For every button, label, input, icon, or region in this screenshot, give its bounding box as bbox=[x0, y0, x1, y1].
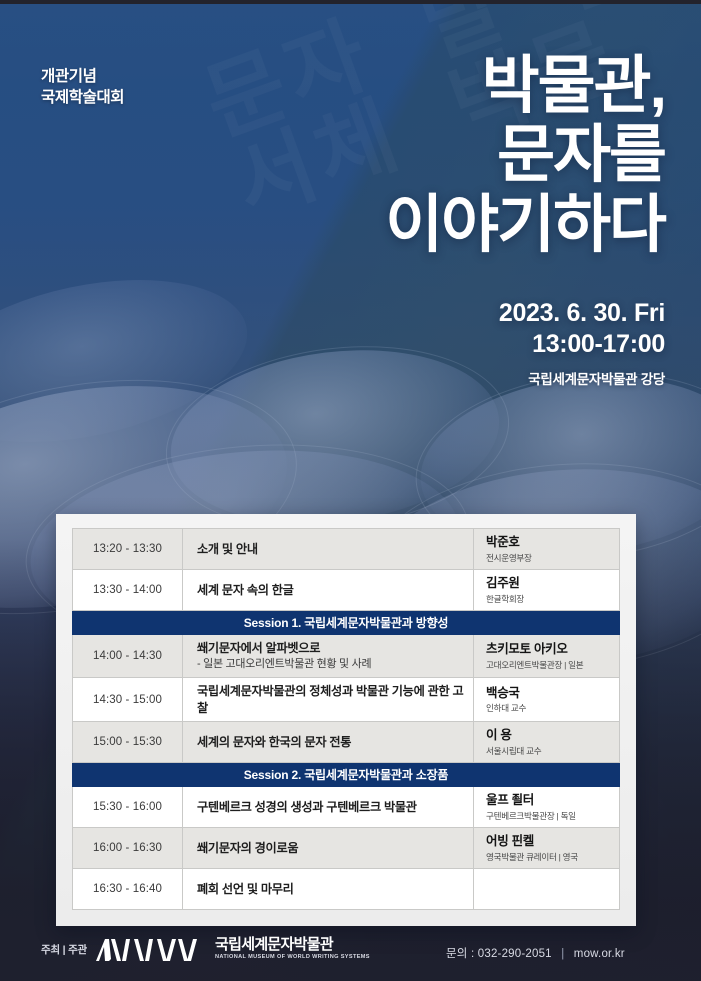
session-title-cell: 소개 및 안내 bbox=[183, 529, 474, 570]
headline-line-3: 이야기하다 bbox=[385, 191, 665, 260]
table-row: 14:30 - 15:00국립세계문자박물관의 정체성과 박물관 기능에 관한 … bbox=[73, 678, 620, 722]
session-header-row: Session 1. 국립세계문자박물관과 방향성 bbox=[73, 611, 620, 635]
session-title: 세계 문자 속의 한글 bbox=[197, 583, 294, 597]
speaker-cell: 어빙 핀켈영국박물관 큐레이터 | 영국 bbox=[474, 828, 620, 869]
headline-line-2: 문자를 bbox=[385, 121, 665, 190]
session-time: 15:30 - 16:00 bbox=[73, 787, 183, 828]
session-time: 15:00 - 15:30 bbox=[73, 722, 183, 763]
organizer-name-ko: 국립세계문자박물관 bbox=[215, 937, 370, 953]
speaker-name: 어빙 핀켈 bbox=[486, 834, 611, 850]
speaker-cell: 울프 죌터구텐베르크박물관장 | 독일 bbox=[474, 787, 620, 828]
contact-label: 문의 : bbox=[446, 948, 474, 960]
headline-line-1: 박물관, bbox=[385, 52, 665, 121]
speaker-name: 김주원 bbox=[486, 576, 611, 592]
speaker-cell: 김주원한글학회장 bbox=[474, 570, 620, 611]
poster-footer: 주최 | 주관 국립세계문자 bbox=[0, 913, 701, 981]
event-date: 2023. 6. 30. Fri bbox=[499, 298, 665, 329]
session-title: 쐐기문자에서 알파벳으로 bbox=[197, 641, 320, 655]
schedule-table: 13:20 - 13:30소개 및 안내박준호전시운영부장13:30 - 14:… bbox=[72, 528, 620, 910]
session-title-cell: 세계의 문자와 한국의 문자 전통 bbox=[183, 722, 474, 763]
event-time: 13:00-17:00 bbox=[499, 329, 665, 360]
event-datetime: 2023. 6. 30. Fri 13:00-17:00 bbox=[499, 298, 665, 361]
session-title-cell: 쐐기문자에서 알파벳으로- 일본 고대오리엔트박물관 현황 및 사례 bbox=[183, 635, 474, 678]
session-time: 16:00 - 16:30 bbox=[73, 828, 183, 869]
session-time: 13:20 - 13:30 bbox=[73, 529, 183, 570]
speaker-cell bbox=[474, 869, 620, 910]
session-header-row: Session 2. 국립세계문자박물관과 소장품 bbox=[73, 763, 620, 787]
session-title: 쐐기문자의 경이로움 bbox=[197, 841, 298, 855]
speaker-affiliation: 인하대 교수 bbox=[486, 703, 611, 713]
organizer-names: 국립세계문자박물관 NATIONAL MUSEUM OF WORLD WRITI… bbox=[215, 937, 370, 961]
session-time: 16:30 - 16:40 bbox=[73, 869, 183, 910]
event-venue: 국립세계문자박물관 강당 bbox=[528, 368, 665, 388]
session-title: 소개 및 안내 bbox=[197, 542, 258, 556]
speaker-name: 울프 죌터 bbox=[486, 793, 611, 809]
page-title: 박물관, 문자를 이야기하다 bbox=[385, 52, 665, 260]
speaker-name: 츠키모토 아키오 bbox=[486, 642, 611, 658]
speaker-affiliation: 고대오리엔트박물관장 | 일본 bbox=[486, 660, 611, 670]
speaker-cell: 백승국인하대 교수 bbox=[474, 678, 620, 722]
event-kicker: 개관기념 국제학술대회 bbox=[41, 66, 124, 109]
organizer-name-en: NATIONAL MUSEUM OF WORLD WRITING SYSTEMS bbox=[215, 955, 370, 961]
conference-poster: 문자 말 글 서체 박물 개관기념 국제학술대회 박물관, 문자를 이야기하다 … bbox=[0, 0, 701, 981]
organizer-label: 주최 | 주관 bbox=[41, 942, 87, 957]
mow-logo-icon bbox=[96, 935, 204, 963]
contact-info: 문의 : 032-290-2051 | mow.or.kr bbox=[446, 945, 625, 961]
contact-phone: 032-290-2051 bbox=[478, 948, 552, 960]
speaker-affiliation: 영국박물관 큐레이터 | 영국 bbox=[486, 852, 611, 862]
table-row: 13:20 - 13:30소개 및 안내박준호전시운영부장 bbox=[73, 529, 620, 570]
speaker-cell: 박준호전시운영부장 bbox=[474, 529, 620, 570]
session-header-label: Session 1. 국립세계문자박물관과 방향성 bbox=[73, 611, 620, 635]
speaker-affiliation: 서울시립대 교수 bbox=[486, 746, 611, 756]
speaker-name: 백승국 bbox=[486, 686, 611, 702]
speaker-name: 박준호 bbox=[486, 535, 611, 551]
speaker-affiliation: 한글학회장 bbox=[486, 594, 611, 604]
organizer-block: 주최 | 주관 국립세계문자 bbox=[41, 935, 370, 963]
session-subtitle: - 일본 고대오리엔트박물관 현황 및 사례 bbox=[197, 657, 473, 672]
contact-website[interactable]: mow.or.kr bbox=[574, 948, 625, 960]
table-row: 15:30 - 16:00구텐베르크 성경의 생성과 구텐베르크 박물관울프 죌… bbox=[73, 787, 620, 828]
session-time: 14:00 - 14:30 bbox=[73, 635, 183, 678]
speaker-affiliation: 구텐베르크박물관장 | 독일 bbox=[486, 811, 611, 821]
session-title: 세계의 문자와 한국의 문자 전통 bbox=[197, 735, 351, 749]
table-row: 14:00 - 14:30쐐기문자에서 알파벳으로- 일본 고대오리엔트박물관 … bbox=[73, 635, 620, 678]
table-row: 16:00 - 16:30쐐기문자의 경이로움어빙 핀켈영국박물관 큐레이터 |… bbox=[73, 828, 620, 869]
session-title-cell: 폐회 선언 및 마무리 bbox=[183, 869, 474, 910]
table-row: 16:30 - 16:40폐회 선언 및 마무리 bbox=[73, 869, 620, 910]
contact-separator: | bbox=[561, 948, 564, 960]
session-title: 국립세계문자박물관의 정체성과 박물관 기능에 관한 고찰 bbox=[197, 684, 463, 714]
table-row: 15:00 - 15:30세계의 문자와 한국의 문자 전통이 용서울시립대 교… bbox=[73, 722, 620, 763]
table-row: 13:30 - 14:00세계 문자 속의 한글김주원한글학회장 bbox=[73, 570, 620, 611]
speaker-affiliation: 전시운영부장 bbox=[486, 553, 611, 563]
top-edge-strip bbox=[0, 0, 701, 4]
session-title-cell: 구텐베르크 성경의 생성과 구텐베르크 박물관 bbox=[183, 787, 474, 828]
session-title: 폐회 선언 및 마무리 bbox=[197, 882, 294, 896]
session-time: 14:30 - 15:00 bbox=[73, 678, 183, 722]
speaker-cell: 츠키모토 아키오고대오리엔트박물관장 | 일본 bbox=[474, 635, 620, 678]
session-title-cell: 세계 문자 속의 한글 bbox=[183, 570, 474, 611]
session-title-cell: 국립세계문자박물관의 정체성과 박물관 기능에 관한 고찰 bbox=[183, 678, 474, 722]
speaker-name: 이 용 bbox=[486, 728, 611, 744]
session-header-label: Session 2. 국립세계문자박물관과 소장품 bbox=[73, 763, 620, 787]
session-time: 13:30 - 14:00 bbox=[73, 570, 183, 611]
session-title: 구텐베르크 성경의 생성과 구텐베르크 박물관 bbox=[197, 800, 417, 814]
speaker-cell: 이 용서울시립대 교수 bbox=[474, 722, 620, 763]
schedule-card: 13:20 - 13:30소개 및 안내박준호전시운영부장13:30 - 14:… bbox=[56, 514, 636, 926]
session-title-cell: 쐐기문자의 경이로움 bbox=[183, 828, 474, 869]
